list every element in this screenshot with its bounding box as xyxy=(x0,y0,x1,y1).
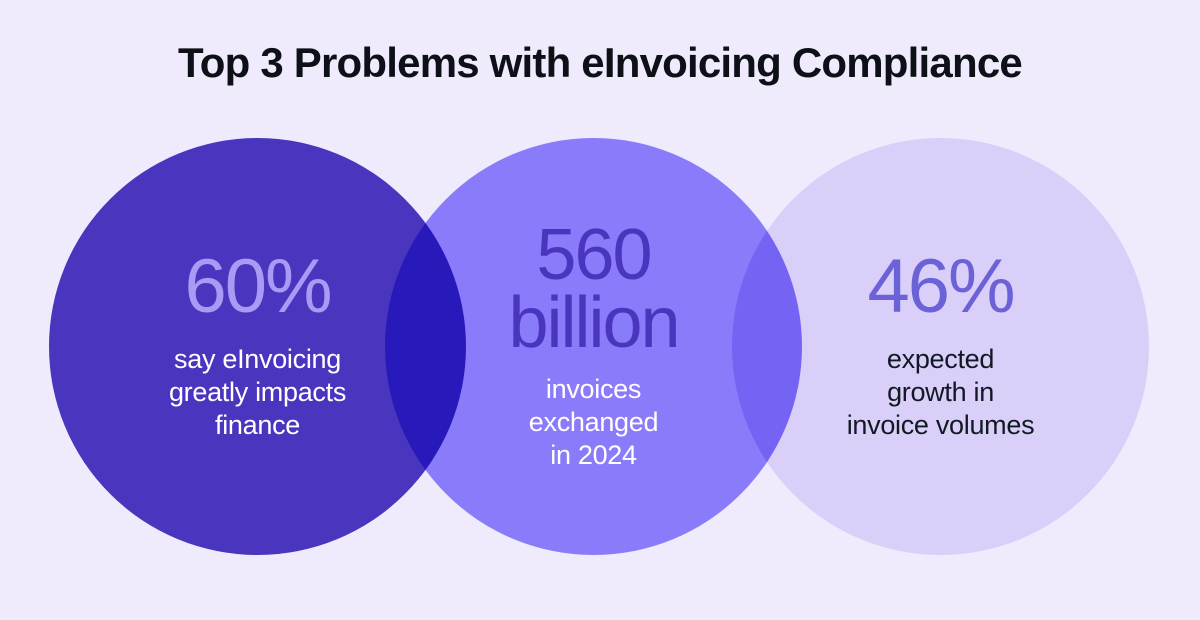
venn-diagram xyxy=(0,0,1200,620)
venn-circle-third xyxy=(732,138,1149,555)
infographic-canvas: Top 3 Problems with eInvoicing Complianc… xyxy=(0,0,1200,620)
